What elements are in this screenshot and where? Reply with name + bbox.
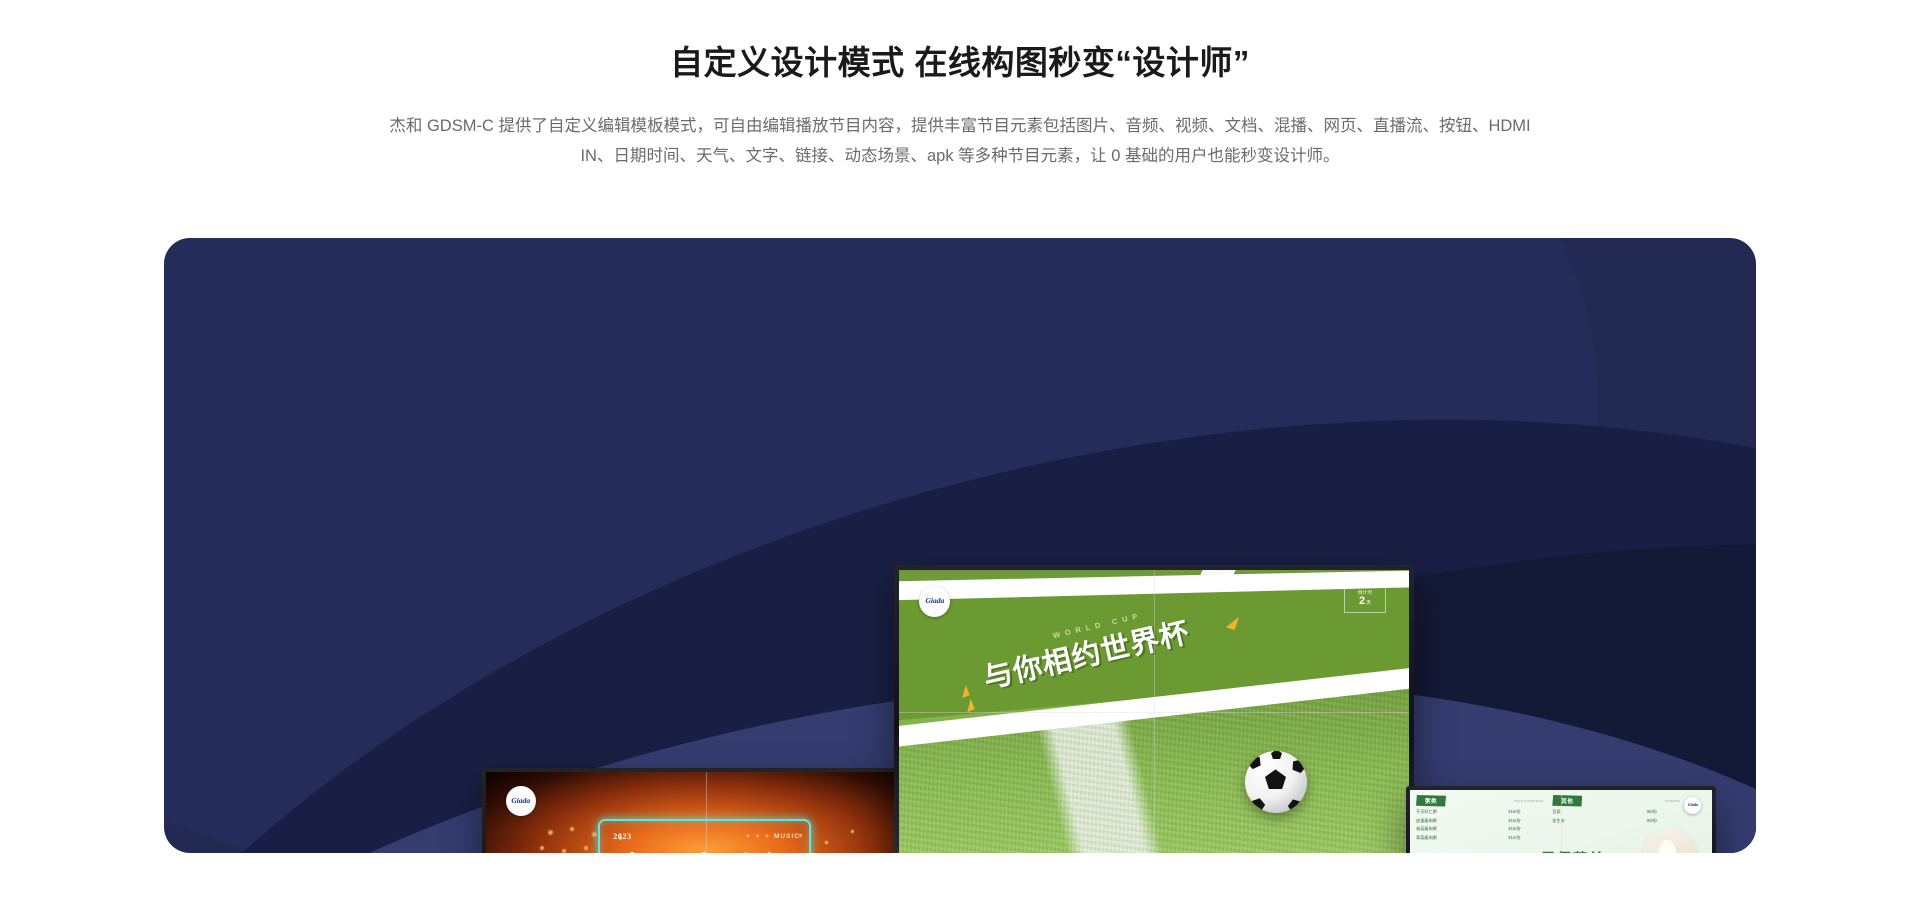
item-name: 青菜瘦肉粥 <box>1416 835 1437 841</box>
subtitle-line-1: 杰和 GDSM-C 提供了自定义编辑模板模式，可自由编辑播放节目内容，提供丰富节… <box>315 111 1605 142</box>
item-name: 香菇瘦肉粥 <box>1416 826 1437 832</box>
subtitle-line-2: IN、日期时间、天气、文字、链接、动态场景、apk 等多种节目元素，让 0 基础… <box>315 141 1605 172</box>
item-name: 豆浆 <box>1552 809 1560 815</box>
menu-section-porridge: 粥类 RICE PORRIDGE 干贝虾仁粥 ¥15/份 皮蛋瘦肉粥 ¥15/份 <box>1416 795 1544 841</box>
tv-screen: WORLD CUP 与你相约世界杯 倒计时 2天 Giada <box>899 570 1409 853</box>
menu-item-row: 青菜瘦肉粥 ¥12/份 <box>1416 835 1544 841</box>
section-tag: 其他 <box>1552 795 1582 807</box>
item-name: 皮蛋瘦肉粥 <box>1416 818 1437 824</box>
menu-item-row: 干贝虾仁粥 ¥15/份 <box>1416 809 1544 815</box>
countdown-unit: 天 <box>1366 600 1371 606</box>
item-price: ¥5/份 <box>1647 809 1657 815</box>
menu-item-row: 皮蛋瘦肉粥 ¥15/份 <box>1416 818 1544 824</box>
concert-music-dots: + + + <box>746 833 771 840</box>
page-root: 自定义设计模式 在线构图秒变“设计师” 杰和 GDSM-C 提供了自定义编辑模板… <box>0 0 1920 920</box>
section-subtitle-en: OTHERS <box>1586 799 1680 803</box>
tv-screen: 粥类 RICE PORRIDGE 干贝虾仁粥 ¥15/份 皮蛋瘦肉粥 ¥15/份 <box>1410 790 1712 853</box>
section-header: 其他 OTHERS <box>1552 795 1680 807</box>
countdown-badge: 倒计时 2天 <box>1344 586 1386 613</box>
section-header: 粥类 RICE PORRIDGE <box>1416 795 1544 807</box>
menu-item-row: 豆浆 ¥5/份 <box>1552 809 1680 815</box>
countdown-label: 倒计时 <box>1358 590 1372 596</box>
menu-content: 粥类 RICE PORRIDGE 干贝虾仁粥 ¥15/份 皮蛋瘦肉粥 ¥15/份 <box>1416 795 1706 853</box>
menu-section-others: 其他 OTHERS 豆浆 ¥5/份 花生米 ¥5/份 <box>1552 795 1680 824</box>
giada-logo-icon: Giada <box>506 786 536 816</box>
menu-item-row: 花生米 ¥5/份 <box>1552 818 1680 824</box>
item-price: ¥15/份 <box>1508 826 1520 832</box>
item-price: ¥15/份 <box>1508 809 1520 815</box>
featured-dish: 豆浆 ¥15/份 <box>1642 829 1697 853</box>
giada-logo-text: Giada <box>511 797 530 805</box>
tv-screen: 2023 + + +MUSIC 橘子音乐会 时间:2023/05/01 Giad… <box>486 772 925 853</box>
item-name: 干贝虾仁粥 <box>1416 809 1437 815</box>
menu-title-block: 早餐菜单 BREAKFAST MENU <box>1515 848 1631 853</box>
concert-music-label: + + +MUSIC <box>746 833 800 840</box>
page-subtitle: 杰和 GDSM-C 提供了自定义编辑模板模式，可自由编辑播放节目内容，提供丰富节… <box>315 111 1605 172</box>
showcase-panel: 2023 + + +MUSIC 橘子音乐会 时间:2023/05/01 Giad… <box>164 238 1756 853</box>
item-price: ¥12/份 <box>1508 835 1520 841</box>
display-worldcup[interactable]: WORLD CUP 与你相约世界杯 倒计时 2天 Giada <box>894 565 1414 853</box>
item-name: 花生米 <box>1552 818 1565 824</box>
countdown-value: 2天 <box>1359 596 1371 608</box>
page-title: 自定义设计模式 在线构图秒变“设计师” <box>0 42 1920 85</box>
section-subtitle-en: RICE PORRIDGE <box>1450 799 1544 803</box>
giada-logo-text: Giada <box>1688 803 1698 807</box>
page-header: 自定义设计模式 在线构图秒变“设计师” 杰和 GDSM-C 提供了自定义编辑模板… <box>0 0 1920 172</box>
giada-logo-text: Giada <box>926 597 945 605</box>
dish-photo <box>1642 829 1697 853</box>
item-price: ¥15/份 <box>1508 818 1520 824</box>
display-breakfast-menu[interactable]: 粥类 RICE PORRIDGE 干贝虾仁粥 ¥15/份 皮蛋瘦肉粥 ¥15/份 <box>1406 786 1716 853</box>
concert-year: 2023 <box>613 832 631 841</box>
concert-music-text: MUSIC <box>774 833 800 840</box>
soccer-ball-icon <box>1245 751 1307 813</box>
concert-title: 橘子音乐会 <box>486 843 925 853</box>
giada-logo-icon: Giada <box>919 586 950 617</box>
section-tag: 粥类 <box>1416 795 1446 807</box>
item-price: ¥5/份 <box>1647 818 1657 824</box>
menu-item-row: 香菇瘦肉粥 ¥15/份 <box>1416 826 1544 832</box>
display-concert[interactable]: 2023 + + +MUSIC 橘子音乐会 时间:2023/05/01 Giad… <box>482 768 929 853</box>
menu-title-cn: 早餐菜单 <box>1515 848 1631 853</box>
